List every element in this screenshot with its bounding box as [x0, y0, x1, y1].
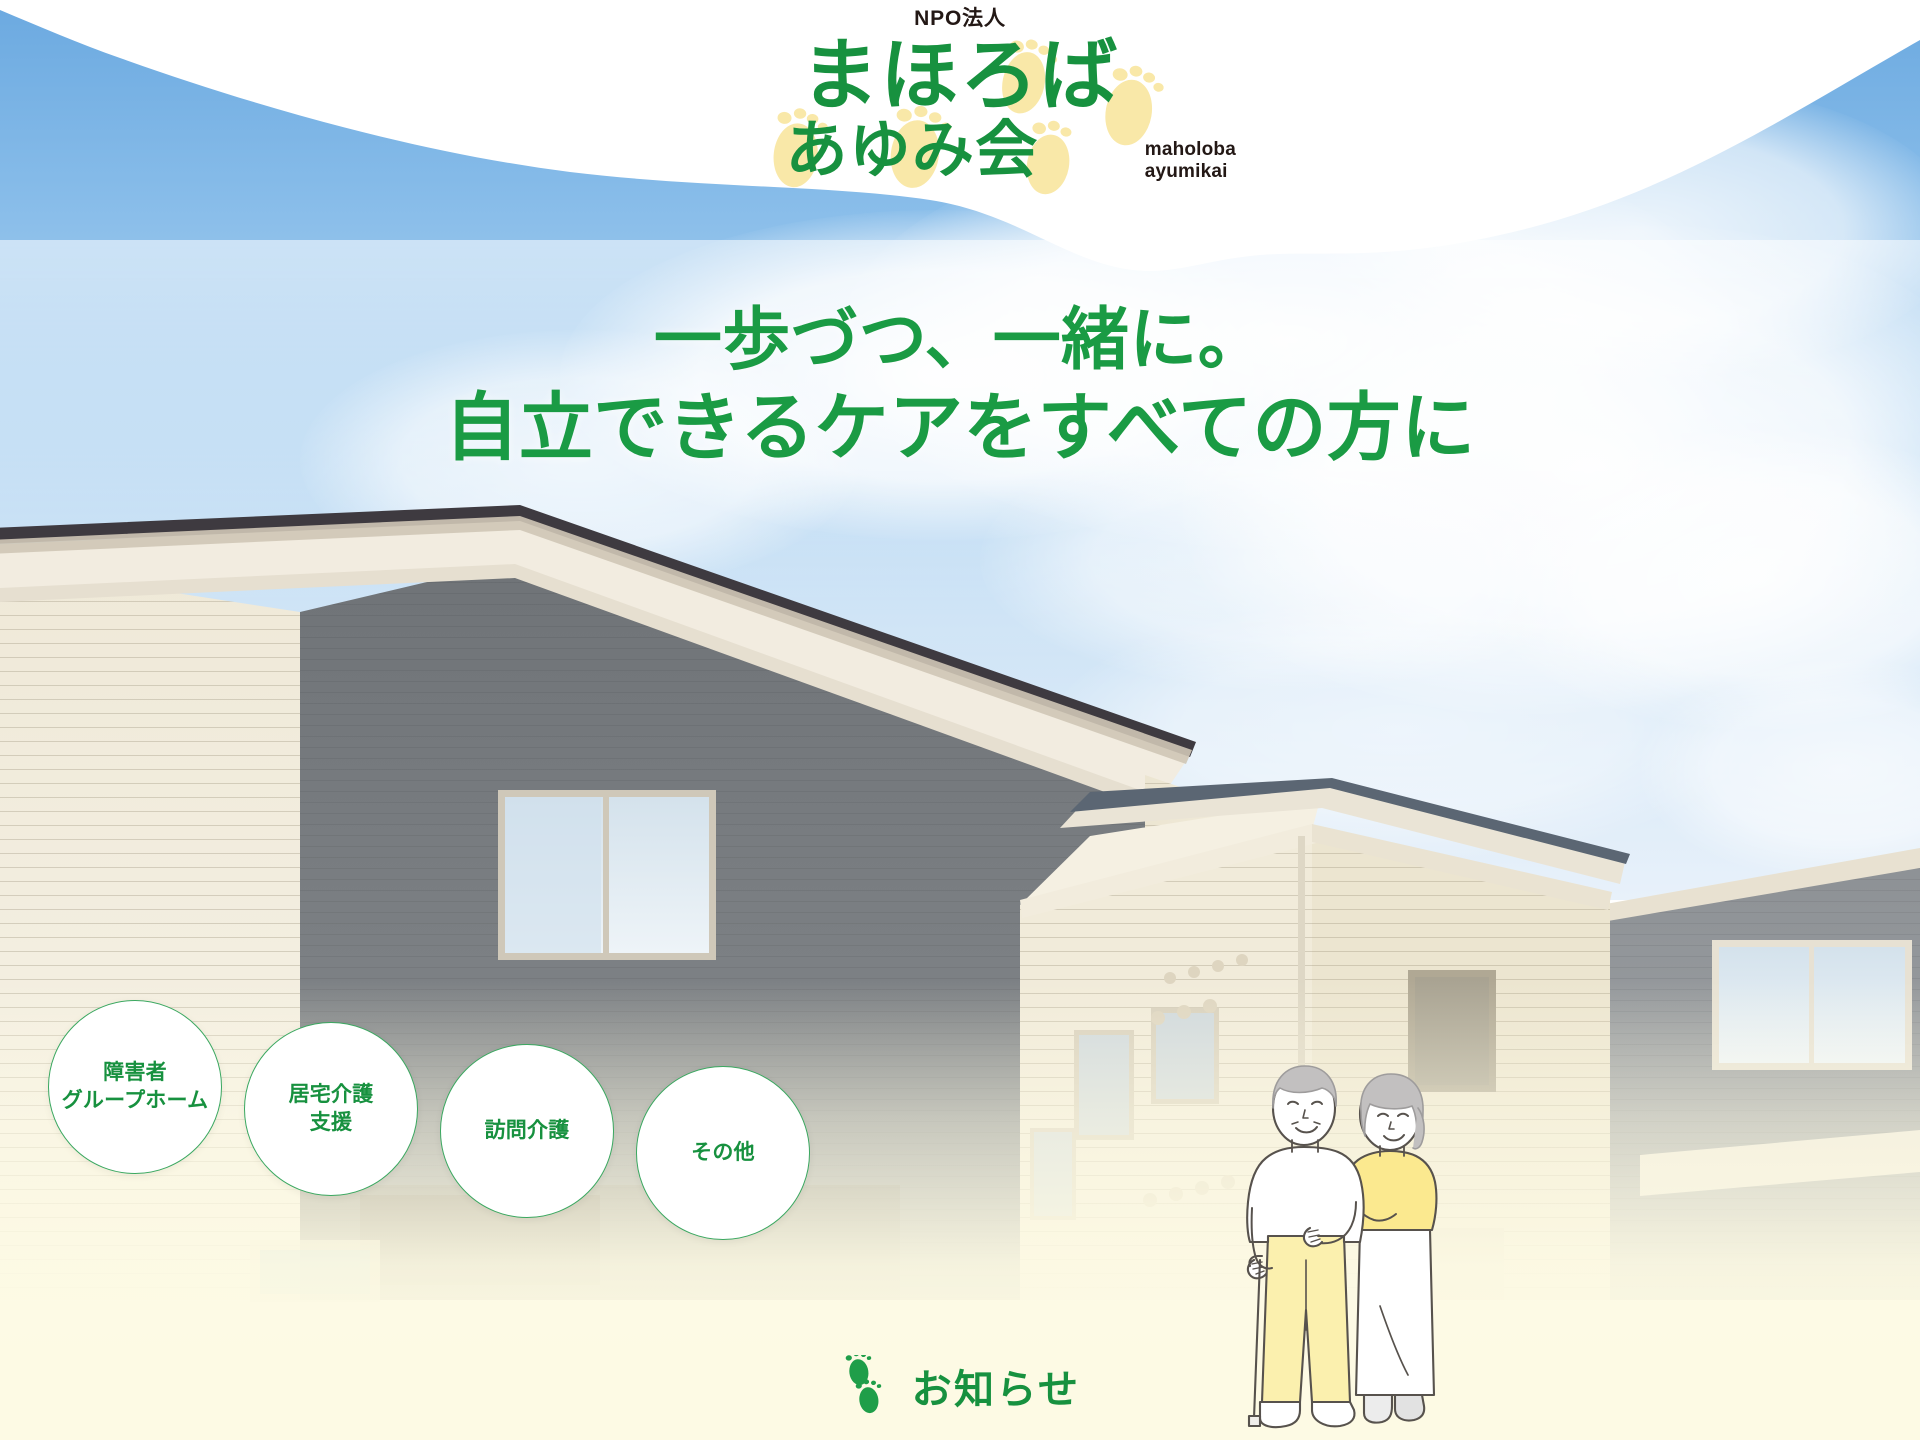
service-circle-nav: 障害者 グループホーム 居宅介護 支援 訪問介護 その他: [48, 1000, 810, 1240]
logo-romaji-line1: maholoba: [1145, 139, 1236, 161]
tagline-line-1: 一歩づつ、一緒に。: [0, 300, 1920, 383]
news-label: お知らせ: [912, 1357, 1081, 1415]
service-circle-disability-group-home[interactable]: 障害者 グループホーム: [48, 1000, 222, 1174]
tagline-line-2: 自立できるケアをすべての方に: [0, 383, 1920, 475]
service-label: 訪問介護: [485, 1117, 570, 1145]
footprints-icon: [840, 1355, 894, 1417]
service-circle-other[interactable]: その他: [636, 1066, 810, 1240]
site-logo[interactable]: NPO法人: [680, 8, 1240, 208]
service-label: その他: [691, 1139, 755, 1167]
logo-name-line1: まほろば: [680, 39, 1240, 114]
logo-artwork: まほろば あゆみ会 maholoba ayumikai: [680, 35, 1240, 195]
service-circle-visiting-care[interactable]: 訪問介護: [440, 1044, 614, 1218]
service-label: 障害者 グループホーム: [62, 1059, 209, 1114]
logo-romaji-line2: ayumikai: [1145, 161, 1236, 183]
service-circle-home-care-support[interactable]: 居宅介護 支援: [244, 1022, 418, 1196]
service-label: 居宅介護 支援: [289, 1081, 374, 1136]
news-link[interactable]: お知らせ: [0, 1355, 1920, 1417]
hero-tagline: 一歩づつ、一緒に。 自立できるケアをすべての方に: [0, 300, 1920, 475]
logo-romaji: maholoba ayumikai: [1145, 139, 1236, 184]
hero-stage: NPO法人: [0, 0, 1920, 1440]
logo-npo-prefix: NPO法人: [680, 8, 1240, 29]
